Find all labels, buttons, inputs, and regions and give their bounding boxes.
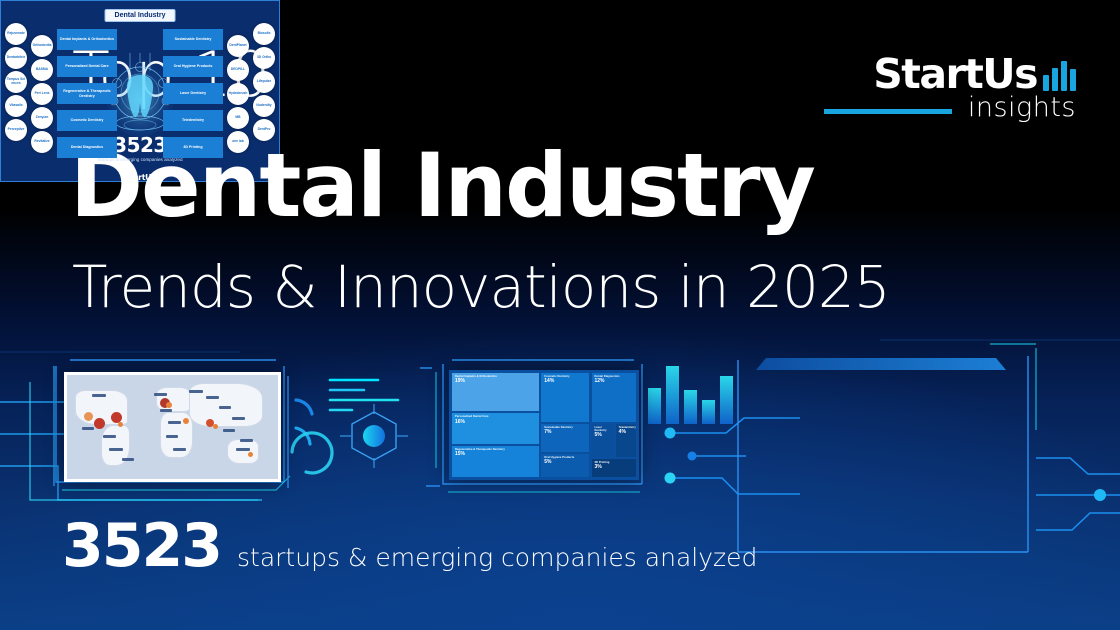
- dashboard-logo-word: StartUs: [124, 173, 155, 181]
- company-logo-right-outer-2-text: 3D Ortho: [256, 55, 272, 61]
- treemap-cell-value: 14%: [544, 379, 586, 385]
- company-logo-left-outer-5[interactable]: Perceptive: [5, 119, 27, 141]
- trend-box-left-4[interactable]: Cosmetic Dentistry: [57, 110, 117, 131]
- company-logo-left-outer-3[interactable]: Tempus Sciences: [5, 71, 27, 93]
- dashboard-count: 3523: [113, 133, 167, 157]
- map-marker: [118, 422, 123, 427]
- company-logo-right-outer-5[interactable]: DentPro: [253, 119, 275, 141]
- analyzed-stat: 3523 startups & emerging companies analy…: [62, 516, 757, 576]
- company-logo-left-inner-4-text: Zenyum: [35, 115, 50, 121]
- treemap-cell-value: 16%: [455, 420, 536, 426]
- company-logo-left-outer-5-text: Perceptive: [7, 127, 26, 133]
- treemap-cell-label: Personalized Dental Care: [455, 415, 536, 418]
- company-logo-right-inner-5-text: one lab: [231, 139, 245, 145]
- treemap-cell[interactable]: Dental Implants & Orthodontics19%: [451, 372, 540, 412]
- treemap-cells: Dental Implants & Orthodontics19%Persona…: [451, 372, 637, 478]
- global-startup-heatmap[interactable]: [64, 372, 281, 482]
- company-logo-left-inner-3[interactable]: Peri Lens: [31, 83, 53, 105]
- treemap-cell-label: Dental Implants & Orthodontics: [455, 375, 536, 378]
- company-logo-right-outer-4-text: Nudentity: [255, 103, 272, 109]
- map-marker: [94, 418, 105, 429]
- company-logo-left-inner-2-text: BASMA: [35, 67, 49, 73]
- company-logo-right-outer-3-text: Lifepulse: [256, 79, 272, 85]
- hexagon-node-icon: [340, 404, 408, 468]
- company-logo-right-outer-3[interactable]: Lifepulse: [253, 71, 275, 93]
- company-logo-right-outer-5-text: DentPro: [257, 127, 272, 133]
- company-logo-right-inner-2-text: DEOPILL: [230, 67, 246, 73]
- treemap-cell-value: 15%: [455, 452, 536, 458]
- company-logo-left-inner-2[interactable]: BASMA: [31, 59, 53, 81]
- startus-insights-logo[interactable]: StartUs insights: [824, 48, 1076, 134]
- treemap-cell-value: 12%: [595, 379, 634, 385]
- world-map: [67, 375, 278, 479]
- company-logo-left-inner-5-text: Revitalize: [33, 139, 50, 145]
- map-marker: [183, 418, 189, 424]
- company-logo-left-outer-3-text: Tempus Sciences: [5, 77, 27, 86]
- trend-box-right-2[interactable]: Oral Hygiene Products: [163, 56, 223, 77]
- company-logo-right-inner-5[interactable]: one lab: [227, 131, 249, 153]
- treemap-cell-value: 3%: [595, 465, 634, 471]
- innovation-treemap-chart[interactable]: Dental Implants & Orthodontics19%Persona…: [449, 370, 639, 480]
- company-logo-left-outer-2[interactable]: Dentarbitrix: [5, 47, 27, 69]
- company-logo-left-outer-1-text: Rejuvenate: [6, 31, 26, 37]
- logo-wordmark: StartUs: [873, 56, 1037, 94]
- company-logo-left-inner-1-text: Orthodontia: [32, 43, 53, 49]
- treemap-cell-value: 19%: [455, 379, 536, 385]
- treemap-cell[interactable]: 3D Printing3%: [591, 458, 638, 478]
- logo-underline: [824, 109, 952, 114]
- company-logo-right-inner-4-text: MB: [234, 115, 241, 121]
- page-subtitle: Trends & Innovations in 2025: [72, 258, 890, 316]
- company-logo-right-inner-1[interactable]: DentPlanet: [227, 35, 249, 57]
- company-logo-right-inner-2[interactable]: DEOPILL: [227, 59, 249, 81]
- trend-box-right-5[interactable]: 3D Printing: [163, 137, 223, 158]
- company-logo-left-outer-4[interactable]: Vitasalis: [5, 95, 27, 117]
- stat-caption: startups & emerging companies analyzed: [237, 543, 757, 572]
- treemap-cell[interactable]: Regenerative & Therapeutic Dentistry15%: [451, 445, 540, 478]
- company-logo-left-outer-1[interactable]: Rejuvenate: [5, 23, 27, 45]
- trend-box-left-5[interactable]: Dental Diagnostics: [57, 137, 117, 158]
- bar-chart-decor: [648, 366, 733, 424]
- company-logo-left-inner-3-text: Peri Lens: [34, 91, 51, 97]
- treemap-cell-value: 4%: [619, 430, 633, 436]
- company-logo-left-outer-4-text: Vitasalis: [8, 103, 23, 109]
- map-marker: [213, 424, 218, 429]
- company-logo-right-outer-1[interactable]: Biosolis: [253, 23, 275, 45]
- trend-box-left-3[interactable]: Regenerative & Therapeutic Dentistry: [57, 83, 117, 104]
- treemap-cell[interactable]: Cosmetic Dentistry14%: [540, 372, 590, 423]
- stat-number: 3523: [62, 516, 221, 576]
- treemap-cell-value: 5%: [544, 460, 586, 466]
- treemap-cell[interactable]: Laser Dentistry5%: [591, 423, 615, 458]
- company-logo-left-outer-2-text: Dentarbitrix: [6, 55, 27, 61]
- company-logo-right-inner-3-text: Hydrobrush: [228, 91, 249, 97]
- treemap-cell[interactable]: Oral Hygiene Products5%: [540, 453, 590, 478]
- dental-industry-dashboard[interactable]: Dental Industry: [0, 0, 280, 182]
- company-logo-right-outer-4[interactable]: Nudentity: [253, 95, 275, 117]
- poster-canvas: Top 10 Dental Industry Trends & Innovati…: [0, 0, 1120, 630]
- dashboard-title: Dental Industry: [105, 9, 176, 22]
- dashboard-logo: StartUs insights: [124, 167, 155, 181]
- bar-chart-icon: [1043, 57, 1076, 94]
- dashboard-top-bevel: [756, 358, 1006, 370]
- company-logo-right-outer-1-text: Biosolis: [257, 31, 272, 37]
- treemap-cell[interactable]: Teledentistry4%: [615, 423, 637, 458]
- company-logo-right-inner-4[interactable]: MB: [227, 107, 249, 129]
- trend-box-right-3[interactable]: Laser Dentistry: [163, 83, 223, 104]
- company-logo-left-inner-4[interactable]: Zenyum: [31, 107, 53, 129]
- treemap-cell[interactable]: Dental Diagnostics12%: [591, 372, 638, 423]
- treemap-cell[interactable]: Personalized Dental Care16%: [451, 412, 540, 445]
- trend-box-right-4[interactable]: Teledentistry: [163, 110, 223, 131]
- treemap-cell-value: 7%: [544, 430, 586, 436]
- company-logo-left-inner-1[interactable]: Orthodontia: [31, 35, 53, 57]
- company-logo-left-inner-5[interactable]: Revitalize: [31, 131, 53, 153]
- company-logo-right-outer-2[interactable]: 3D Ortho: [253, 47, 275, 69]
- trend-box-right-1[interactable]: Sustainable Dentistry: [163, 29, 223, 50]
- trend-box-left-1[interactable]: Dental Implants & Orthodontics: [57, 29, 117, 50]
- treemap-cell-label: Regenerative & Therapeutic Dentistry: [455, 448, 536, 451]
- treemap-cell[interactable]: Sustainable Dentistry7%: [540, 423, 590, 453]
- logo-subtext: insights: [968, 92, 1076, 123]
- trend-box-left-2[interactable]: Personalized Dental Care: [57, 56, 117, 77]
- company-logo-right-inner-3[interactable]: Hydrobrush: [227, 83, 249, 105]
- company-logo-right-inner-1-text: DentPlanet: [228, 43, 247, 49]
- treemap-cell-value: 5%: [595, 433, 611, 439]
